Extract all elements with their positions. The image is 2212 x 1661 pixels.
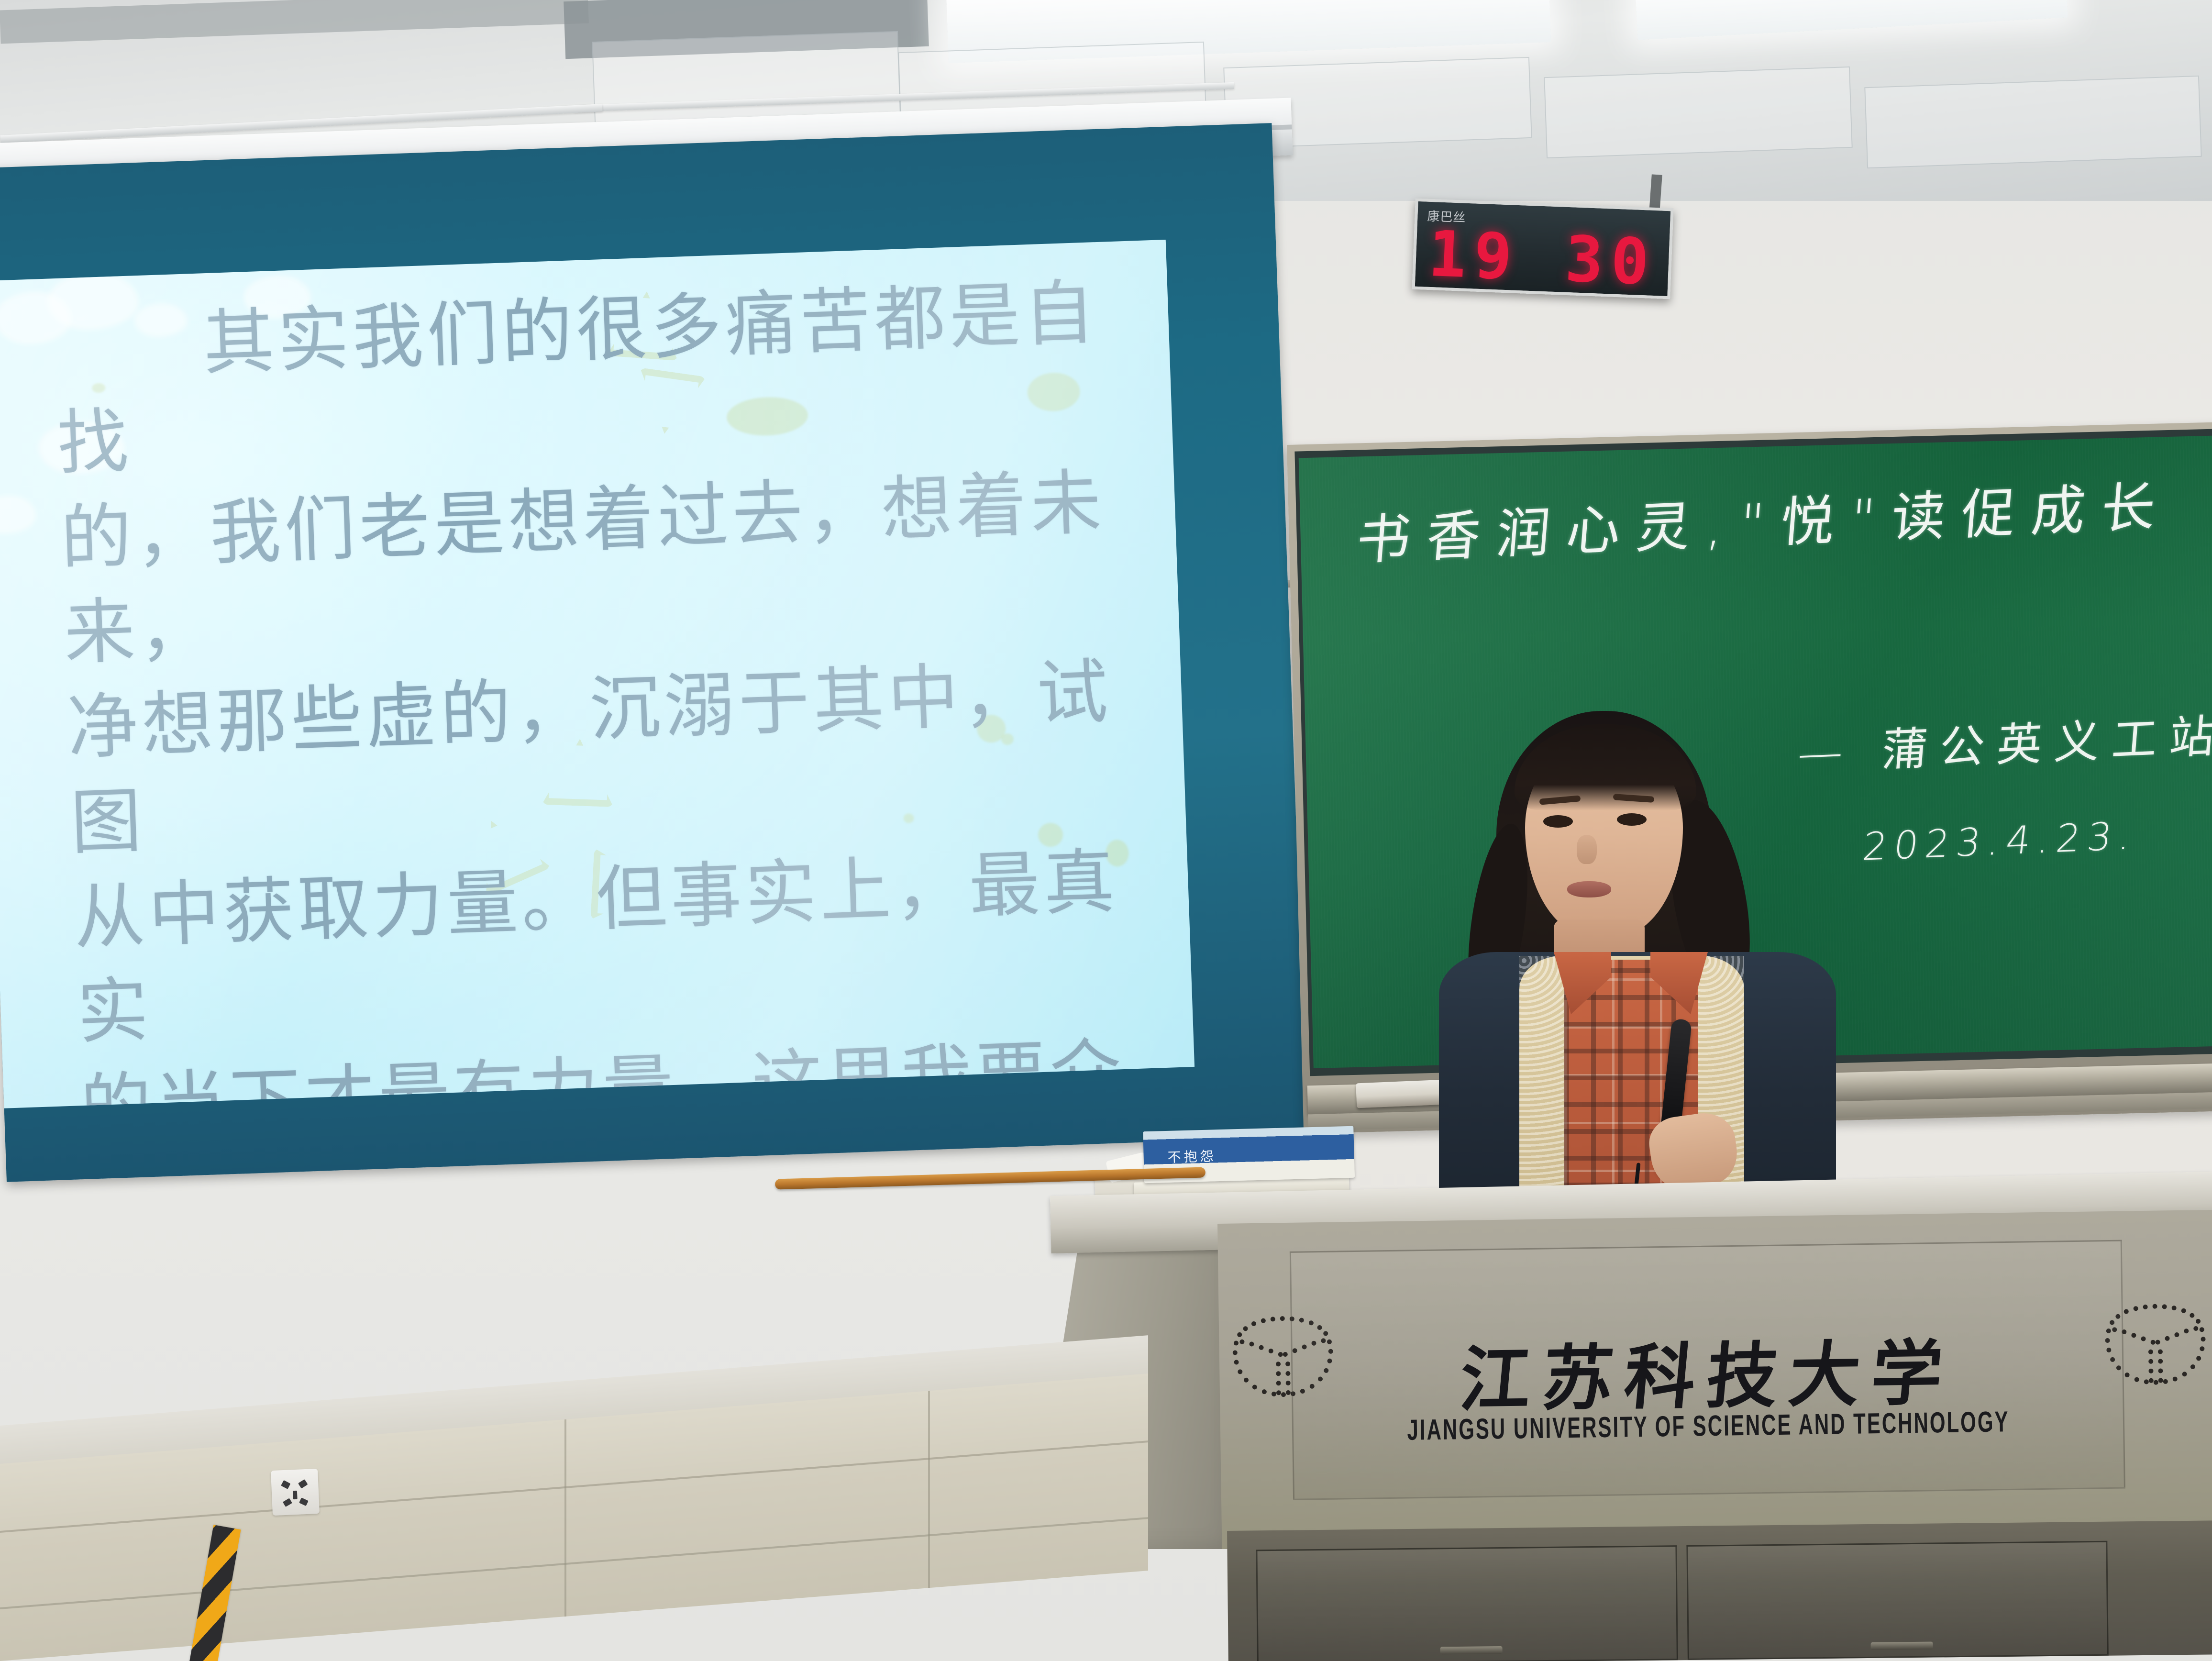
eye-right [1617, 813, 1647, 826]
outlet-slot [293, 1491, 298, 1499]
cabinet-door-right[interactable] [1686, 1541, 2108, 1660]
ceiling-light-fixture-2 [1635, 0, 2068, 40]
ceiling-tile [1544, 66, 1853, 158]
book-title: 不抱怨 [1167, 1146, 1217, 1166]
outlet-slot [281, 1480, 290, 1489]
floor-tile-seam [0, 1440, 1148, 1533]
cloud-blob [0, 495, 37, 535]
ceiling-tile [1864, 76, 2202, 168]
cabinet-handle-right[interactable] [1871, 1642, 1933, 1650]
digital-clock: 康巴丝 19 30 [1412, 199, 1674, 299]
eye-left [1543, 815, 1573, 828]
slide-canvas: 其实我们的很多痛苦都是自找 的，我们老是想着过去，想着未来， 净想那些虚的，沉溺… [0, 240, 1194, 1108]
lectern-podium[interactable]: 江苏科技大学 JIANGSU UNIVERSITY OF SCIENCE AND… [1031, 1196, 2212, 1661]
ceiling-shadow [0, 0, 589, 44]
mouth [1567, 881, 1611, 897]
slide-body-text: 其实我们的很多痛苦都是自找 的，我们老是想着过去，想着未来， 净想那些虚的，沉溺… [53, 264, 1165, 1108]
podium-cabinet-base [1227, 1520, 2212, 1661]
power-outlet[interactable] [271, 1469, 320, 1516]
podium-front-face: 江苏科技大学 JIANGSU UNIVERSITY OF SCIENCE AND… [1217, 1210, 2212, 1549]
blackboard-title: 书香润心灵,"悦"读促成长 [1354, 463, 2175, 575]
outlet-slot [283, 1498, 292, 1506]
nose [1577, 835, 1597, 864]
clock-time-display: 19 30 [1415, 217, 1670, 299]
cabinet-handle-left[interactable] [1440, 1646, 1503, 1654]
floor-tile-seam [564, 1419, 566, 1617]
outlet-slot [299, 1497, 309, 1506]
classroom-scene: 其实我们的很多痛苦都是自找 的，我们老是想着过去，想着未来， 净想那些虚的，沉溺… [0, 0, 2212, 1661]
podium-logo-panel: 江苏科技大学 JIANGSU UNIVERSITY OF SCIENCE AND… [1290, 1240, 2125, 1500]
projection-screen[interactable]: 其实我们的很多痛苦都是自找 的，我们老是想着过去，想着未来， 净想那些虚的，沉溺… [0, 123, 1307, 1182]
blackboard-date: 2023.4.23. [1860, 813, 2140, 869]
floor-tile-seam [928, 1391, 930, 1588]
blackboard-attribution: — 蒲公英义工站 [1796, 699, 2212, 783]
cabinet-door-left[interactable] [1256, 1545, 1678, 1661]
outlet-slot [298, 1479, 308, 1489]
